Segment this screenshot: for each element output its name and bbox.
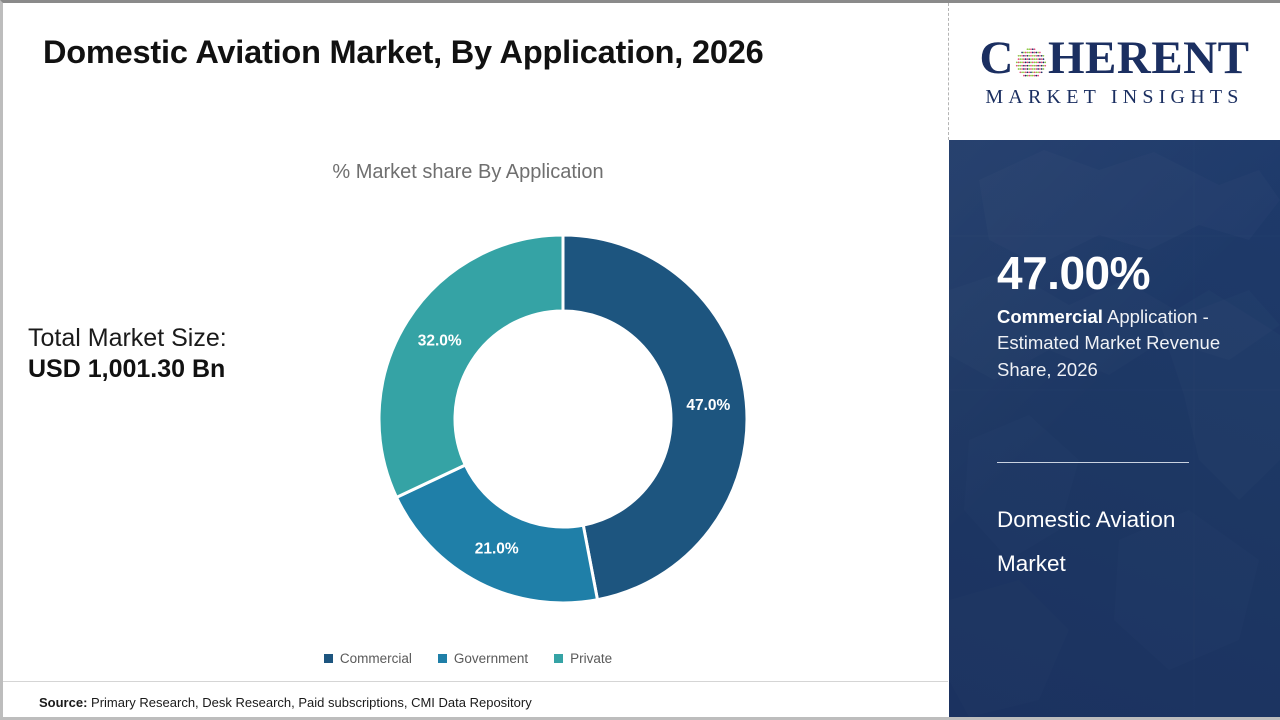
- total-market-size-label: Total Market Size:: [28, 323, 227, 354]
- legend-label: Private: [570, 651, 612, 666]
- chart-legend: CommercialGovernmentPrivate: [3, 651, 933, 666]
- globe-dot: [1019, 68, 1021, 70]
- logo-wordmark: C HERENT: [980, 35, 1250, 82]
- donut-slices: [379, 235, 747, 603]
- globe-dot: [1028, 54, 1030, 56]
- globe-dot: [1027, 54, 1029, 56]
- globe-dot: [1028, 71, 1030, 73]
- logo-letter-c: C: [980, 35, 1014, 82]
- globe-dot: [1035, 74, 1037, 76]
- footer-divider: [3, 681, 948, 682]
- globe-dot: [1030, 68, 1032, 70]
- globe-dot: [1034, 54, 1036, 56]
- globe-dot: [1019, 58, 1021, 60]
- globe-dot: [1041, 61, 1043, 63]
- globe-dot: [1035, 68, 1037, 70]
- globe-dot: [1027, 74, 1029, 76]
- brand-logo: C HERENT MARKET INSIGHTS: [949, 3, 1280, 140]
- main-content-area: Domestic Aviation Market, By Application…: [3, 3, 948, 717]
- globe-dot: [1043, 61, 1045, 63]
- globe-dot: [1032, 51, 1034, 53]
- globe-dot: [1037, 51, 1039, 53]
- globe-dot: [1039, 58, 1041, 60]
- globe-dot: [1023, 64, 1025, 66]
- globe-dot: [1018, 58, 1020, 60]
- globe-dot: [1032, 71, 1034, 73]
- globe-dot: [1035, 58, 1037, 60]
- globe-dot: [1027, 58, 1029, 60]
- total-market-size-value: USD 1,001.30 Bn: [28, 354, 227, 385]
- globe-dot: [1032, 48, 1034, 50]
- legend-swatch-icon: [554, 654, 563, 663]
- globe-dot: [1044, 61, 1046, 63]
- logo-tagline: MARKET INSIGHTS: [985, 86, 1243, 109]
- globe-dot: [1039, 71, 1041, 73]
- globe-dot: [1035, 61, 1037, 63]
- globe-dot: [1034, 51, 1036, 53]
- globe-dot: [1023, 61, 1025, 63]
- globe-dot: [1030, 58, 1032, 60]
- legend-item-private[interactable]: Private: [554, 651, 612, 666]
- globe-dot: [1030, 61, 1032, 63]
- page-title: Domestic Aviation Market, By Application…: [43, 34, 763, 71]
- globe-dot: [1037, 68, 1039, 70]
- globe-dot: [1025, 71, 1027, 73]
- globe-dot: [1025, 61, 1027, 63]
- globe-dot: [1018, 54, 1020, 56]
- globe-dot: [1037, 58, 1039, 60]
- globe-dot: [1041, 64, 1043, 66]
- globe-dot: [1035, 64, 1037, 66]
- globe-dot: [1023, 68, 1025, 70]
- globe-dot: [1032, 61, 1034, 63]
- infographic-page: Domestic Aviation Market, By Application…: [0, 0, 1280, 720]
- globe-dot: [1032, 74, 1034, 76]
- globe-dot: [1023, 58, 1025, 60]
- globe-dot: [1018, 68, 1020, 70]
- globe-dot: [1030, 71, 1032, 73]
- source-line: Source: Primary Research, Desk Research,…: [39, 695, 532, 710]
- legend-item-commercial[interactable]: Commercial: [324, 651, 412, 666]
- globe-dot: [1041, 54, 1043, 56]
- globe-dot: [1028, 68, 1030, 70]
- donut-slice-commercial[interactable]: [563, 235, 747, 600]
- globe-dot: [1039, 61, 1041, 63]
- globe-dot: [1043, 58, 1045, 60]
- legend-label: Commercial: [340, 651, 412, 666]
- globe-dot: [1041, 68, 1043, 70]
- globe-dot: [1039, 64, 1041, 66]
- globe-dot: [1035, 71, 1037, 73]
- source-label: Source:: [39, 695, 87, 710]
- donut-chart: 47.0%21.0%32.0%: [379, 235, 747, 603]
- donut-chart-svg: 47.0%21.0%32.0%: [379, 235, 747, 603]
- legend-swatch-icon: [324, 654, 333, 663]
- globe-dot: [1034, 58, 1036, 60]
- globe-dot: [1034, 61, 1036, 63]
- globe-dot: [1027, 71, 1029, 73]
- globe-dot: [1032, 54, 1034, 56]
- globe-dot: [1030, 74, 1032, 76]
- globe-dot: [1028, 58, 1030, 60]
- globe-dot: [1030, 64, 1032, 66]
- globe-dot: [1023, 51, 1025, 53]
- globe-dot: [1037, 61, 1039, 63]
- globe-dot: [1018, 61, 1020, 63]
- globe-dot: [1044, 64, 1046, 66]
- globe-dot: [1037, 71, 1039, 73]
- globe-dot: [1016, 61, 1018, 63]
- logo-letters-herent: HERENT: [1048, 35, 1250, 82]
- globe-dot: [1027, 48, 1029, 50]
- globe-dot: [1021, 61, 1023, 63]
- donut-slice-private[interactable]: [379, 235, 563, 497]
- globe-dot: [1027, 51, 1029, 53]
- globe-dot: [1034, 74, 1036, 76]
- globe-dot: [1032, 58, 1034, 60]
- globe-dot: [1039, 68, 1041, 70]
- globe-dot: [1028, 48, 1030, 50]
- globe-dot-grid: [1016, 48, 1046, 76]
- globe-dot: [1019, 61, 1021, 63]
- globe-dot: [1035, 54, 1037, 56]
- donut-slice-value-private: 32.0%: [418, 332, 462, 349]
- globe-dot: [1019, 71, 1021, 73]
- globe-dot: [1034, 64, 1036, 66]
- globe-dot: [1028, 51, 1030, 53]
- chart-subtitle: % Market share By Application: [3, 161, 933, 184]
- globe-dot: [1016, 64, 1018, 66]
- donut-slice-value-government: 21.0%: [475, 541, 519, 558]
- panel-market-name: Domestic Aviation Market: [997, 498, 1247, 586]
- stat-value: 47.00%: [997, 250, 1150, 296]
- highlight-panel: 47.00% Commercial Application - Estimate…: [949, 140, 1280, 717]
- panel-divider: [997, 462, 1189, 463]
- globe-dot: [1021, 51, 1023, 53]
- globe-dot: [1037, 54, 1039, 56]
- globe-dot: [1037, 64, 1039, 66]
- globe-dot: [1023, 71, 1025, 73]
- globe-dot: [1025, 74, 1027, 76]
- globe-dot: [1025, 58, 1027, 60]
- globe-dot: [1043, 54, 1045, 56]
- globe-dot: [1043, 68, 1045, 70]
- legend-swatch-icon: [438, 654, 447, 663]
- globe-dot: [1025, 51, 1027, 53]
- stat-description: Commercial Application - Estimated Marke…: [997, 304, 1257, 383]
- globe-dot: [1023, 54, 1025, 56]
- globe-dot: [1023, 74, 1025, 76]
- globe-dot: [1021, 54, 1023, 56]
- globe-dot: [1039, 51, 1041, 53]
- globe-dot: [1019, 54, 1021, 56]
- globe-dot: [1030, 51, 1032, 53]
- highlight-panel-content: 47.00% Commercial Application - Estimate…: [997, 140, 1260, 717]
- globe-dot: [1034, 48, 1036, 50]
- globe-dot: [1021, 58, 1023, 60]
- stat-description-emphasis: Commercial: [997, 306, 1103, 327]
- globe-dot: [1018, 64, 1020, 66]
- globe-dots-icon-svg: [1015, 47, 1047, 79]
- legend-label: Government: [454, 651, 528, 666]
- globe-dot: [1027, 61, 1029, 63]
- globe-dot: [1021, 68, 1023, 70]
- globe-dot: [1030, 54, 1032, 56]
- globe-dot: [1034, 71, 1036, 73]
- donut-slice-government[interactable]: [397, 465, 598, 603]
- globe-dot: [1032, 68, 1034, 70]
- globe-dot: [1034, 68, 1036, 70]
- globe-dot: [1041, 71, 1043, 73]
- globe-dot: [1028, 64, 1030, 66]
- globe-dot: [1041, 58, 1043, 60]
- source-text: Primary Research, Desk Research, Paid su…: [87, 695, 531, 710]
- globe-dot: [1027, 64, 1029, 66]
- globe-dot: [1025, 64, 1027, 66]
- globe-dot: [1039, 54, 1041, 56]
- globe-dot: [1037, 74, 1039, 76]
- legend-item-government[interactable]: Government: [438, 651, 528, 666]
- globe-dot: [1035, 51, 1037, 53]
- globe-dot: [1028, 74, 1030, 76]
- globe-dot: [1043, 64, 1045, 66]
- globe-dot: [1025, 54, 1027, 56]
- donut-slice-value-commercial: 47.0%: [686, 397, 730, 414]
- globe-dot: [1028, 61, 1030, 63]
- globe-dot: [1027, 68, 1029, 70]
- globe-dot: [1030, 48, 1032, 50]
- globe-dot: [1019, 64, 1021, 66]
- globe-dot: [1025, 68, 1027, 70]
- total-market-size: Total Market Size: USD 1,001.30 Bn: [28, 323, 227, 384]
- globe-dot: [1021, 71, 1023, 73]
- globe-dot: [1021, 64, 1023, 66]
- globe-dot: [1032, 64, 1034, 66]
- globe-dots-icon: [1015, 41, 1047, 73]
